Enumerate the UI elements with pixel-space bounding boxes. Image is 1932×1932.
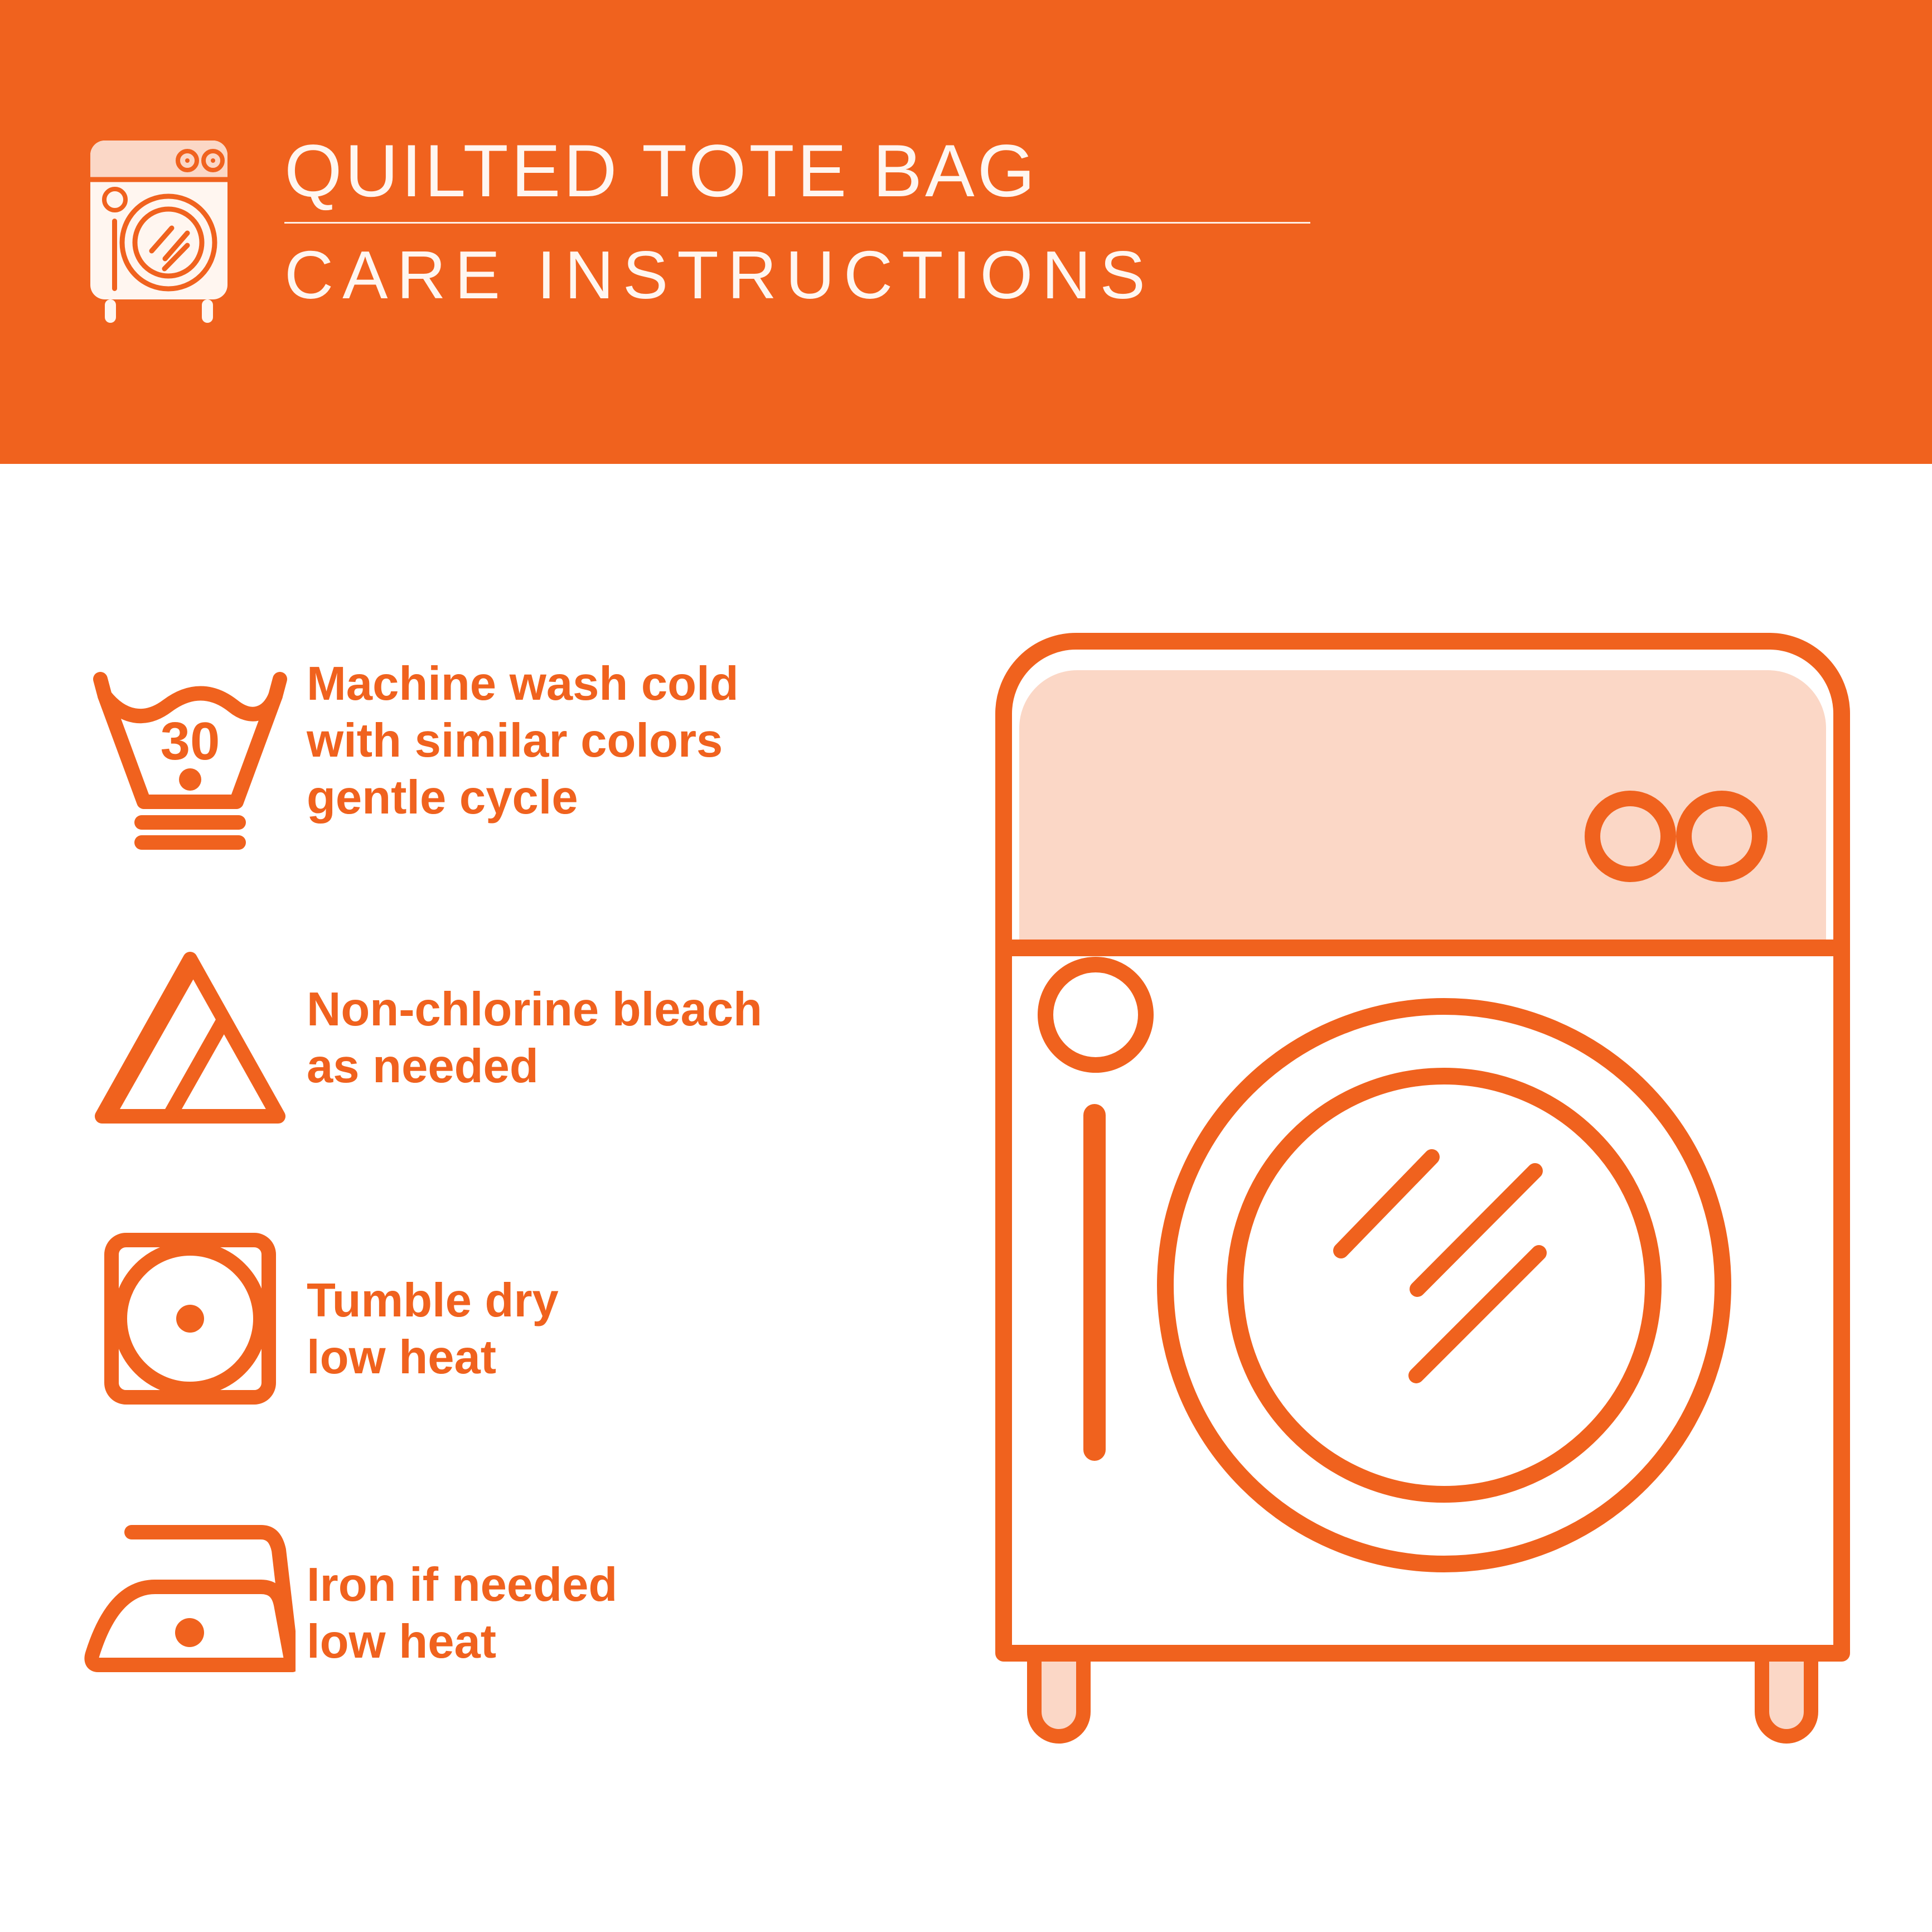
door-handle [1083, 1104, 1106, 1461]
iron-icon [84, 1494, 307, 1717]
bleach-triangle-icon [84, 926, 307, 1149]
instruction-label: Machine wash cold with similar colors ge… [307, 641, 920, 826]
instruction-label: Tumble dry low heat [307, 1210, 920, 1386]
page-title: QUILTED TOTE BAG [284, 129, 1338, 213]
list-item: 30 Machine wash cold with similar colors… [84, 641, 920, 926]
page-subtitle: CARE INSTRUCTIONS [284, 236, 1338, 314]
list-item: Tumble dry low heat [84, 1210, 920, 1494]
instruction-label: Non-chlorine bleach as needed [307, 926, 920, 1095]
list-item: Non-chlorine bleach as needed [84, 926, 920, 1210]
tumble-dry-square-icon [84, 1210, 307, 1433]
list-item: Iron if needed low heat [84, 1494, 920, 1779]
washing-machine-icon [84, 135, 234, 325]
header-text-column: QUILTED TOTE BAG CARE INSTRUCTIONS [284, 129, 1338, 314]
header-banner: QUILTED TOTE BAG CARE INSTRUCTIONS [0, 0, 1932, 464]
wash-tub-30-icon: 30 [84, 641, 307, 864]
front-load-washing-machine-illustration [948, 613, 1896, 1896]
instruction-label: Iron if needed low heat [307, 1494, 920, 1670]
header-content: QUILTED TOTE BAG CARE INSTRUCTIONS [84, 129, 1338, 341]
header-divider [284, 222, 1310, 224]
care-instruction-list: 30 Machine wash cold with similar colors… [84, 641, 920, 1779]
wash-temperature-label: 30 [161, 711, 220, 771]
